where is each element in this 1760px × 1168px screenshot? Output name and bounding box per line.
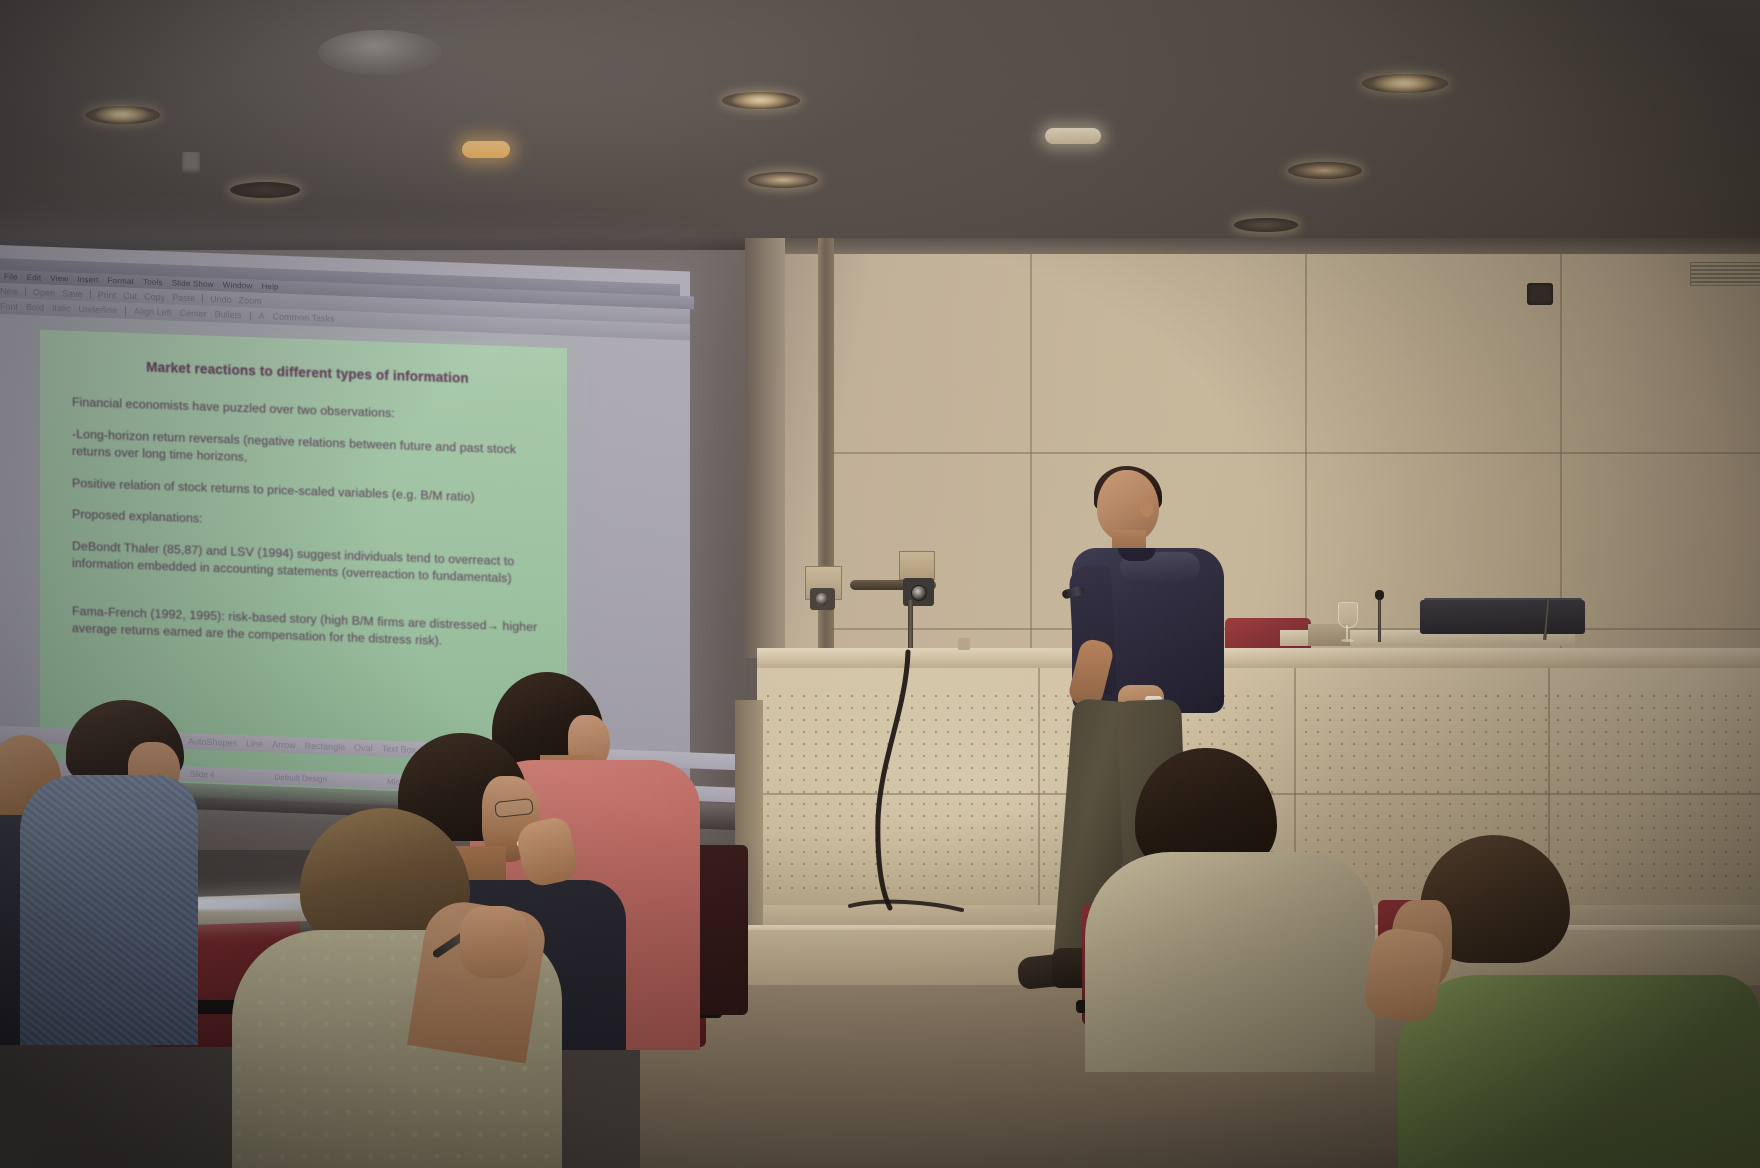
smoke-detector-icon [182, 152, 200, 174]
slide-paragraph: Financial economists have puzzled over t… [72, 394, 543, 428]
toolbar-copy-icon[interactable]: Copy [144, 291, 165, 302]
hand [460, 906, 528, 978]
wine-glass-icon [1338, 602, 1356, 646]
menu-item-file[interactable]: File [4, 272, 18, 282]
toolbar-italic-icon[interactable]: Italic [52, 303, 71, 314]
toolbar-zoom-icon[interactable]: Zoom [239, 295, 262, 306]
power-cable [878, 652, 908, 908]
toolbar-save-icon[interactable]: Save [62, 288, 83, 299]
downlight-icon [462, 141, 510, 158]
toolbar-undo-icon[interactable]: Undo [210, 294, 232, 305]
toolbar-new-icon[interactable]: New [0, 285, 18, 296]
menu-item-tools[interactable]: Tools [143, 277, 163, 287]
slide-paragraph: Positive relation of stock returns to pr… [72, 474, 543, 508]
wall-seam [1305, 254, 1307, 654]
ceiling-dome-light [318, 30, 442, 75]
floor-cable [850, 902, 962, 910]
menu-item-insert[interactable]: Insert [77, 275, 98, 285]
microphone-stand-icon [1378, 596, 1381, 642]
downlight-icon [1045, 128, 1101, 144]
toolbar-separator [90, 289, 91, 298]
torso [1398, 975, 1760, 1168]
wall-speaker-icon [1527, 283, 1553, 305]
presenter-ear [1140, 500, 1153, 517]
slide-paragraph: DeBondt Thaler (85,87) and LSV (1994) su… [72, 537, 543, 588]
keyboard-icon [1420, 600, 1585, 634]
wall-seam [1030, 254, 1032, 654]
downlight-icon [1362, 74, 1448, 93]
slide-paragraph: -Long-horizon return reversals (negative… [72, 425, 543, 476]
torso [20, 775, 198, 1045]
toolbar-separator [250, 311, 251, 320]
menu-item-slideshow[interactable]: Slide Show [172, 278, 214, 289]
cable-clip [958, 638, 970, 650]
slide-title: Market reactions to different types of i… [72, 357, 543, 388]
wall-socket-knob-icon [810, 588, 835, 610]
autoshapes-button[interactable]: AutoShapes [188, 736, 237, 748]
document-camera-body [899, 551, 935, 580]
toolbar-separator [125, 306, 126, 315]
toolbar-align-left-icon[interactable]: Align Left [134, 306, 172, 317]
oval-tool-icon[interactable]: Oval [354, 743, 373, 754]
slide-paragraph: Proposed explanations: [72, 506, 543, 540]
toolbar-font-color-icon[interactable]: A [259, 311, 265, 321]
wall-seam [830, 452, 1760, 454]
toolbar-font-select[interactable]: Font [0, 301, 18, 312]
downlight-icon [230, 182, 300, 198]
lecture-room-photo: File Edit View Insert Format Tools Slide… [0, 0, 1760, 1168]
glass-stem [1346, 625, 1348, 639]
menu-item-view[interactable]: View [50, 274, 68, 284]
wall-left-shadow-column [745, 238, 785, 658]
line-tool-icon[interactable]: Line [246, 738, 263, 749]
menu-item-window[interactable]: Window [223, 280, 253, 290]
menu-item-format[interactable]: Format [108, 276, 135, 286]
toolbar-underline-icon[interactable]: Underline [79, 304, 118, 315]
menu-item-edit[interactable]: Edit [27, 273, 42, 283]
downlight-icon [1288, 162, 1362, 179]
downlight-icon [722, 92, 800, 109]
torso [1085, 852, 1375, 1072]
toolbar-common-tasks-button[interactable]: Common Tasks [273, 311, 335, 323]
toolbar-bold-icon[interactable]: Bold [26, 302, 44, 313]
wood-panel-wall [745, 238, 1760, 658]
ceiling [0, 0, 1760, 262]
glass-base [1341, 639, 1354, 642]
glass-bowl [1338, 602, 1358, 628]
textbox-tool-icon[interactable]: Text Box [382, 744, 417, 755]
toolbar-open-icon[interactable]: Open [33, 287, 55, 298]
downlight-icon [748, 172, 818, 188]
toolbar-bullets-icon[interactable]: Bullets [215, 309, 242, 320]
arrow-tool-icon[interactable]: Arrow [272, 739, 296, 750]
hand [1362, 925, 1446, 1024]
toolbar-separator [202, 294, 203, 303]
toolbar-paste-icon[interactable]: Paste [172, 292, 195, 303]
menu-item-help[interactable]: Help [261, 282, 278, 292]
wall-seam [1560, 254, 1562, 654]
toolbar-separator [25, 287, 26, 296]
slide-paragraph: Fama-French (1992, 1995): risk-based sto… [72, 602, 543, 653]
toolbar-cut-icon[interactable]: Cut [123, 290, 137, 301]
downlight-icon [1234, 218, 1298, 232]
toolbar-print-icon[interactable]: Print [98, 289, 117, 300]
air-vent-icon [1690, 262, 1760, 286]
toolbar-center-icon[interactable]: Center [180, 308, 207, 319]
downlight-icon [86, 106, 160, 124]
rectangle-tool-icon[interactable]: Rectangle [305, 741, 346, 753]
wall-top-trim [745, 238, 1760, 254]
status-slide-number: Slide 4 [190, 770, 214, 780]
status-design-name: Default Design [274, 773, 326, 784]
